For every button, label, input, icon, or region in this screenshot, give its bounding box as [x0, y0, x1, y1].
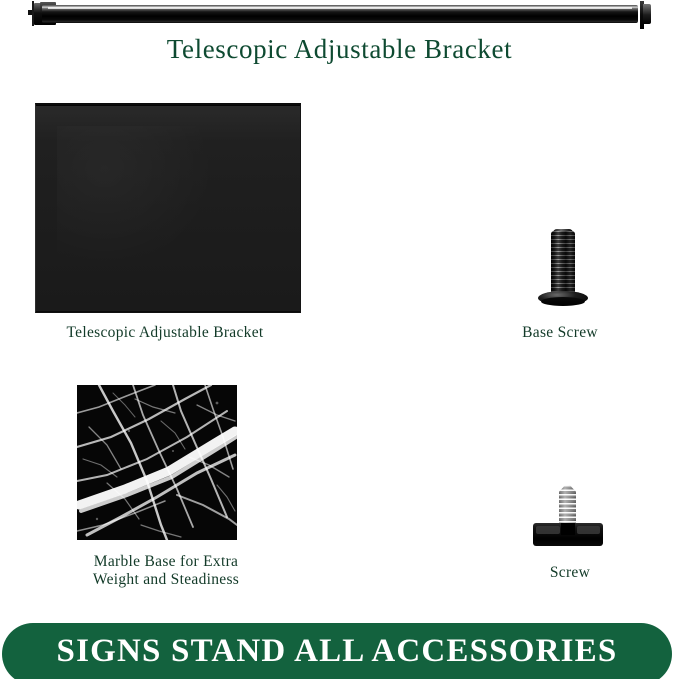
- base-screw-image: [538, 228, 588, 308]
- screw-image: [533, 485, 603, 547]
- rod-right-end: [643, 4, 651, 24]
- page-title: Telescopic Adjustable Bracket: [0, 34, 679, 65]
- bracket-caption: Telescopic Adjustable Bracket: [0, 324, 330, 342]
- rod-highlight: [48, 7, 632, 9]
- bracket-product-image: [35, 103, 301, 313]
- base-screw-threaded-shaft: [551, 231, 575, 295]
- screw-wing-right-highlight: [577, 526, 600, 534]
- bottom-banner-text: SIGNS STAND ALL ACCESSORIES: [2, 623, 672, 679]
- marble-base-caption-line1: Marble Base for Extra: [60, 553, 272, 571]
- telescopic-rod-image: [28, 0, 653, 32]
- screw-head-notch: [561, 523, 575, 535]
- bottom-banner: SIGNS STAND ALL ACCESSORIES: [2, 623, 672, 679]
- marble-base-caption: Marble Base for Extra Weight and Steadin…: [60, 553, 272, 589]
- product-infographic: Telescopic Adjustable Bracket Telescopic…: [0, 0, 679, 679]
- screw-wing-left-highlight: [536, 526, 560, 534]
- marble-base-caption-line2: Weight and Steadiness: [60, 571, 272, 589]
- base-screw-caption: Base Screw: [470, 324, 650, 342]
- base-screw-flange-underside: [541, 297, 585, 306]
- marble-veins-icon: [77, 385, 237, 540]
- marble-base-image: [77, 385, 237, 540]
- screw-threaded-shaft: [559, 485, 576, 527]
- screw-caption: Screw: [490, 564, 650, 582]
